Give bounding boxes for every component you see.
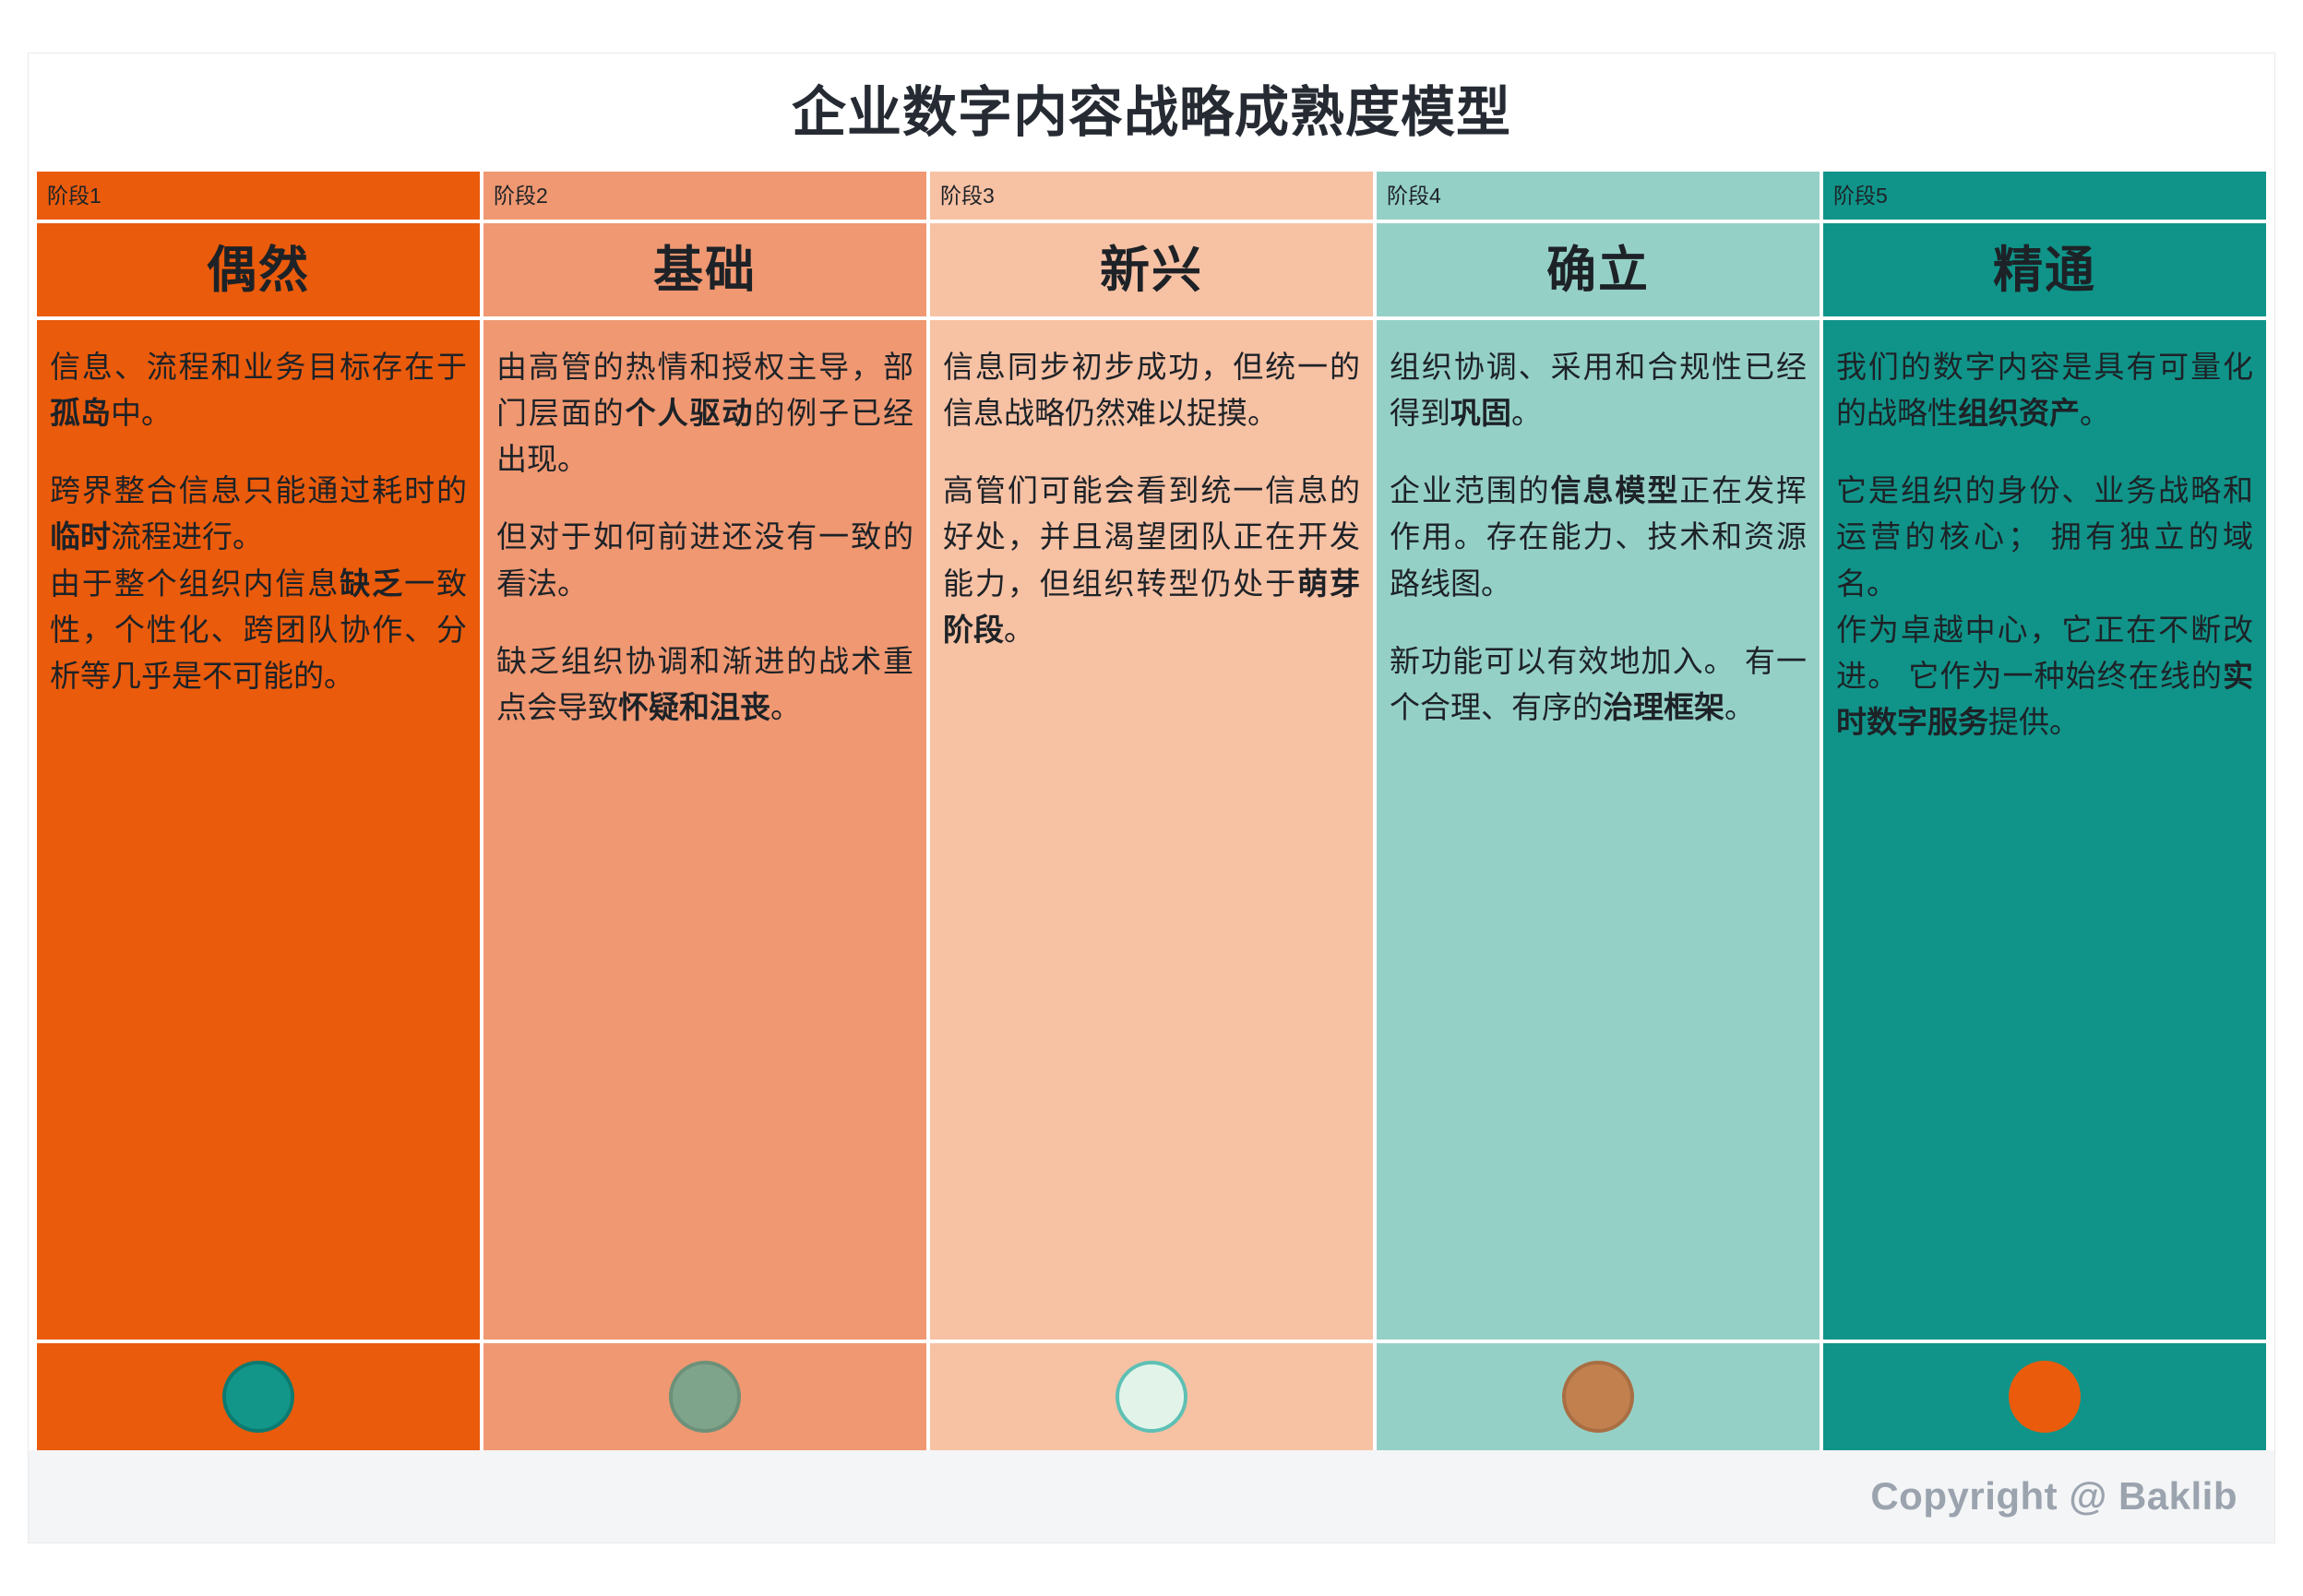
stage-label-cell-1: 阶段1: [37, 172, 480, 220]
title-bar: 企业数字内容战略成熟度模型: [29, 54, 2274, 172]
stage-dot-cell-3: [930, 1343, 1373, 1450]
stage-label-3: 阶段3: [940, 185, 995, 207]
stage-dot-4: [1562, 1361, 1634, 1433]
stage-dot-3: [1116, 1361, 1187, 1433]
stage-body-4: 组织协调、采用和合规性已经得到巩固。 企业范围的信息模型正在发挥作用。存在能力、…: [1377, 320, 1820, 1340]
stage-paragraph: 信息、流程和业务目标存在于孤岛中。: [50, 344, 467, 436]
stage-grid: 阶段1 偶然 信息、流程和业务目标存在于孤岛中。 跨界整合信息只能通过耗时的临时…: [29, 172, 2274, 1450]
stage-column-4[interactable]: 阶段4 确立 组织协调、采用和合规性已经得到巩固。 企业范围的信息模型正在发挥作…: [1377, 172, 1820, 1450]
stage-label-cell-3: 阶段3: [930, 172, 1373, 220]
stage-dot-cell-2: [483, 1343, 926, 1450]
stage-dot-cell-1: [37, 1343, 480, 1450]
stage-name-2: 基础: [653, 245, 757, 295]
stage-paragraph: 新功能可以有效地加入。 有一个合理、有序的治理框架。: [1390, 638, 1807, 731]
stage-name-5: 精通: [1993, 245, 2096, 295]
stage-body-3: 信息同步初步成功，但统一的信息战略仍然难以捉摸。 高管们可能会看到统一信息的好处…: [930, 320, 1373, 1340]
stage-label-1: 阶段1: [47, 185, 101, 207]
stage-paragraph: 高管们可能会看到统一信息的好处，并且渴望团队正在开发能力，但组织转型仍处于萌芽阶…: [943, 468, 1360, 653]
stage-paragraph: 但对于如何前进还没有一致的看法。: [496, 514, 913, 606]
stage-name-cell-3: 新兴: [930, 223, 1373, 316]
stage-paragraph: 由高管的热情和授权主导，部门层面的个人驱动的例子已经出现。: [496, 344, 913, 482]
stage-column-1[interactable]: 阶段1 偶然 信息、流程和业务目标存在于孤岛中。 跨界整合信息只能通过耗时的临时…: [37, 172, 480, 1450]
stage-label-5: 阶段5: [1833, 185, 1888, 207]
stage-name-cell-4: 确立: [1377, 223, 1820, 316]
stage-paragraph: 我们的数字内容是具有可量化的战略性组织资产。: [1836, 344, 2253, 436]
stage-dot-cell-4: [1377, 1343, 1820, 1450]
stage-name-3: 新兴: [1100, 245, 1203, 295]
stage-body-1: 信息、流程和业务目标存在于孤岛中。 跨界整合信息只能通过耗时的临时流程进行。由于…: [37, 320, 480, 1340]
stage-paragraph: 信息同步初步成功，但统一的信息战略仍然难以捉摸。: [943, 344, 1360, 436]
stage-dot-1: [222, 1361, 294, 1433]
model-card: 企业数字内容战略成熟度模型 阶段1 偶然 信息、流程和业务目标存在于孤岛中。 跨…: [28, 53, 2275, 1543]
copyright-label: Copyright @ Baklib: [1870, 1474, 2237, 1519]
stage-dot-cell-5: [1823, 1343, 2266, 1450]
stage-name-cell-2: 基础: [483, 223, 926, 316]
page-title: 企业数字内容战略成熟度模型: [792, 86, 1511, 140]
footer-bar: Copyright @ Baklib: [29, 1450, 2274, 1542]
stage-body-2: 由高管的热情和授权主导，部门层面的个人驱动的例子已经出现。 但对于如何前进还没有…: [483, 320, 926, 1340]
stage-paragraph: 它是组织的身份、业务战略和运营的核心； 拥有独立的域名。作为卓越中心，它正在不断…: [1836, 468, 2253, 745]
stage-label-cell-2: 阶段2: [483, 172, 926, 220]
stage-name-cell-5: 精通: [1823, 223, 2266, 316]
stage-name-4: 确立: [1546, 245, 1650, 295]
stage-dot-2: [669, 1361, 741, 1433]
stage-name-1: 偶然: [207, 245, 310, 295]
stage-label-cell-4: 阶段4: [1377, 172, 1820, 220]
stage-label-4: 阶段4: [1387, 185, 1441, 207]
stage-paragraph: 组织协调、采用和合规性已经得到巩固。: [1390, 344, 1807, 436]
stage-column-5[interactable]: 阶段5 精通 我们的数字内容是具有可量化的战略性组织资产。 它是组织的身份、业务…: [1823, 172, 2266, 1450]
stage-paragraph: 跨界整合信息只能通过耗时的临时流程进行。由于整个组织内信息缺乏一致性，个性化、跨…: [50, 468, 467, 699]
stage-label-cell-5: 阶段5: [1823, 172, 2266, 220]
stage-label-2: 阶段2: [494, 185, 548, 207]
stage-body-5: 我们的数字内容是具有可量化的战略性组织资产。 它是组织的身份、业务战略和运营的核…: [1823, 320, 2266, 1340]
maturity-model-page: 企业数字内容战略成熟度模型 阶段1 偶然 信息、流程和业务目标存在于孤岛中。 跨…: [0, 0, 2303, 1596]
stage-dot-5: [2009, 1361, 2081, 1433]
stage-column-2[interactable]: 阶段2 基础 由高管的热情和授权主导，部门层面的个人驱动的例子已经出现。 但对于…: [483, 172, 926, 1450]
stage-paragraph: 缺乏组织协调和渐进的战术重点会导致怀疑和沮丧。: [496, 638, 913, 731]
stage-name-cell-1: 偶然: [37, 223, 480, 316]
stage-paragraph: 企业范围的信息模型正在发挥作用。存在能力、技术和资源路线图。: [1390, 468, 1807, 606]
stage-column-3[interactable]: 阶段3 新兴 信息同步初步成功，但统一的信息战略仍然难以捉摸。 高管们可能会看到…: [930, 172, 1373, 1450]
